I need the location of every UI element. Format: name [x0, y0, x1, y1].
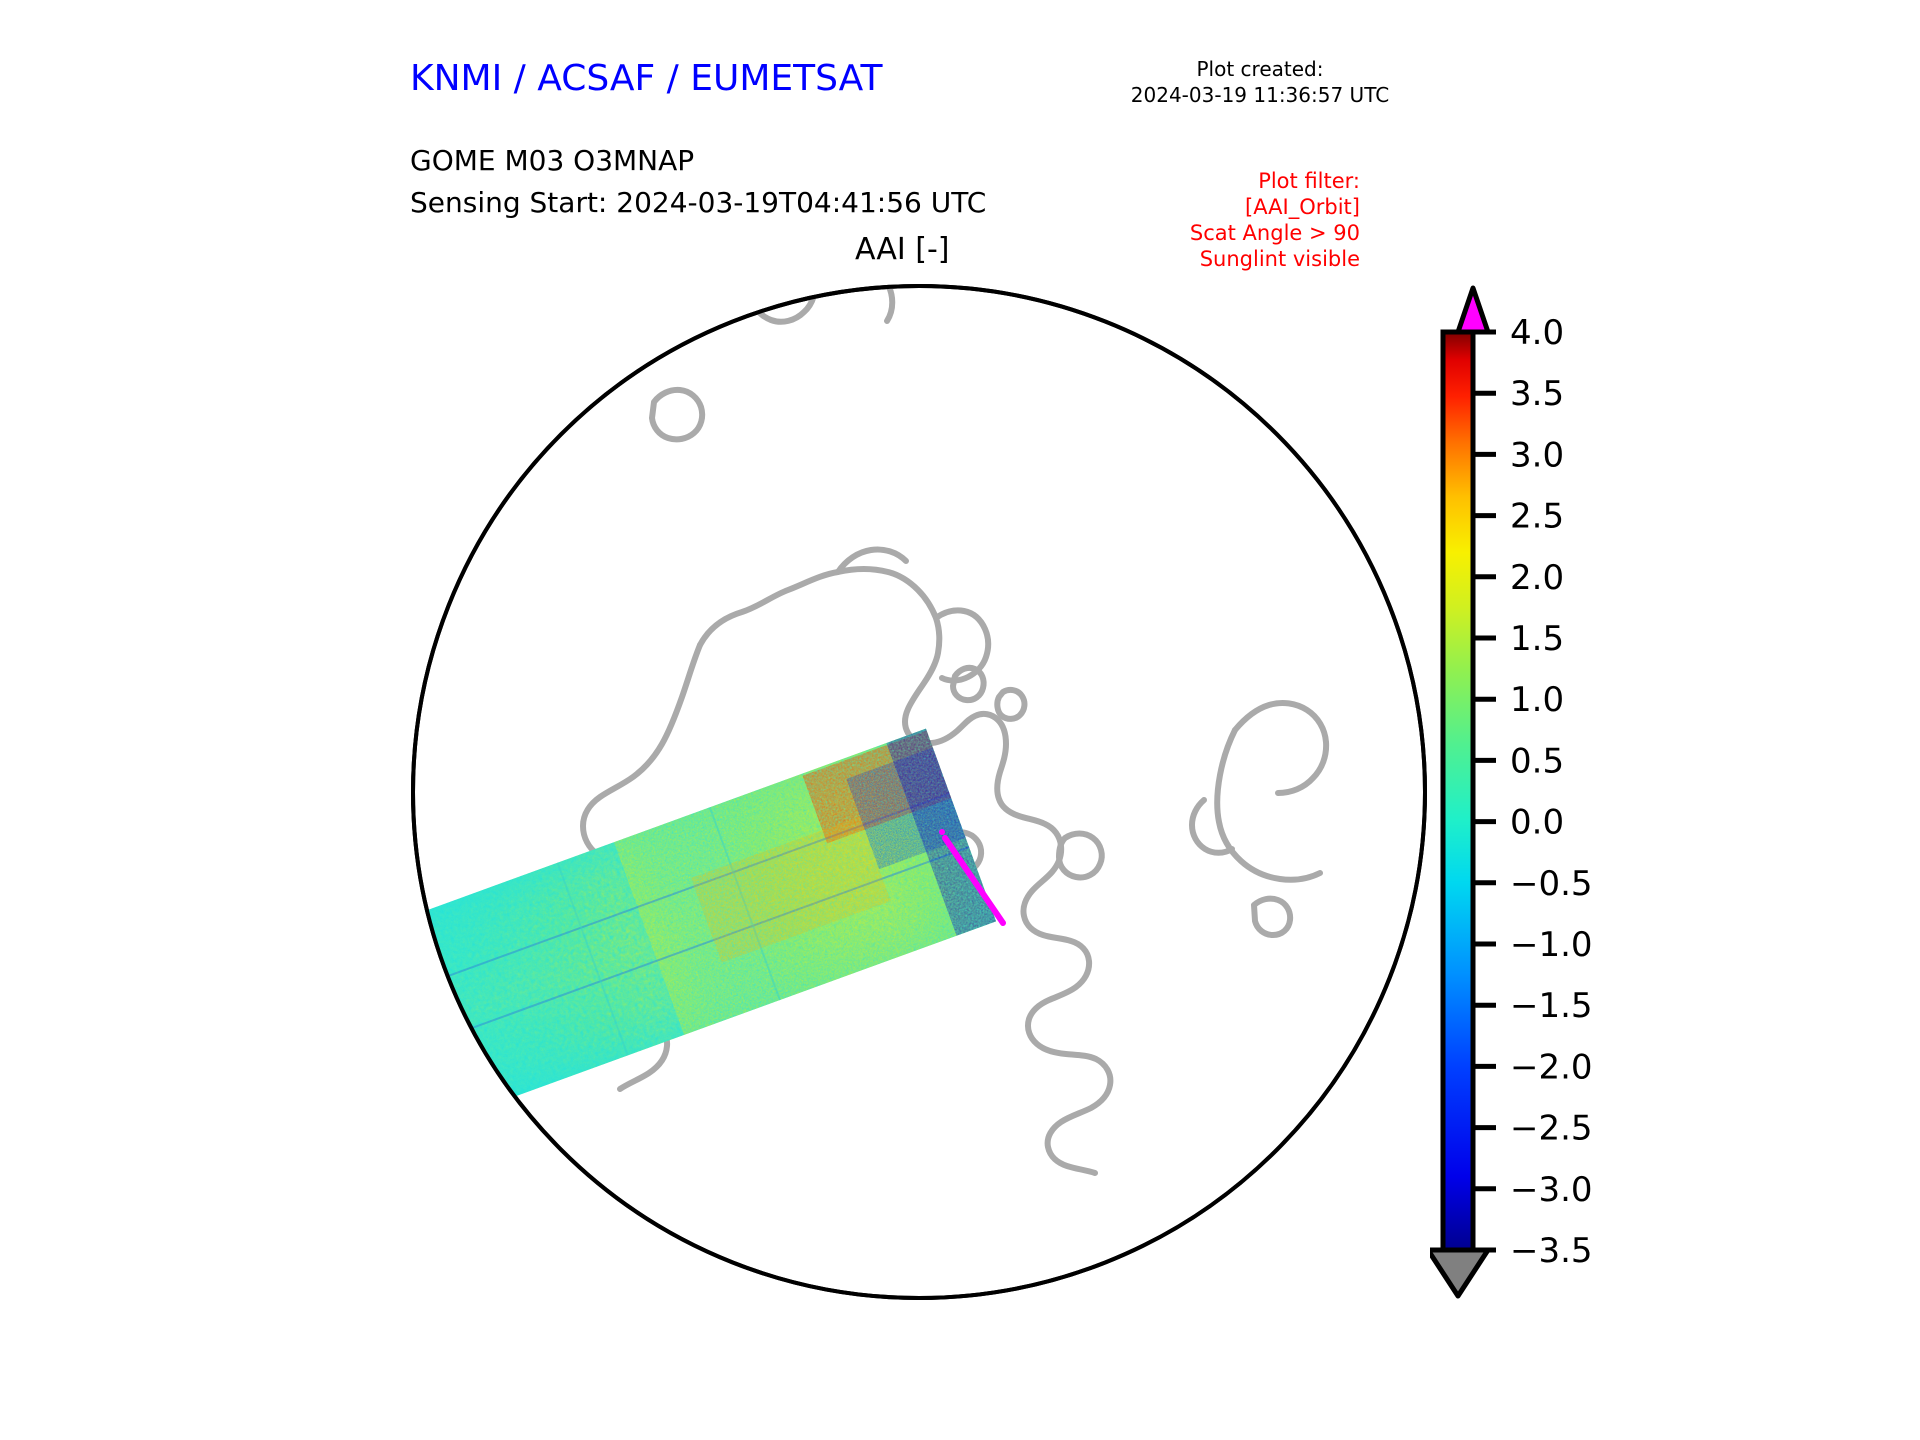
colorbar-tick-label: 3.0 [1510, 435, 1564, 475]
dataset-name: GOME M03 O3MNAP [410, 140, 986, 182]
colorbar-tick-label: 2.5 [1510, 497, 1564, 537]
plot-created-timestamp: 2024-03-19 11:36:57 UTC [1070, 82, 1450, 108]
dataset-block: GOME M03 O3MNAP Sensing Start: 2024-03-1… [410, 140, 986, 224]
filter-condition: Scat Angle > 90 [1190, 220, 1360, 246]
colorbar-tick-label: 0.5 [1510, 741, 1564, 781]
colorbar-tick-label: −2.0 [1510, 1047, 1593, 1087]
colorbar-under-arrow [1430, 1250, 1488, 1296]
colorbar-gradient-bar [1443, 332, 1473, 1250]
colorbar-tick-label: −0.5 [1510, 864, 1593, 904]
colorbar-tick-label: −1.0 [1510, 925, 1593, 965]
colorbar-tick-label: 2.0 [1510, 558, 1564, 598]
colorbar-tick-label: −2.5 [1510, 1109, 1593, 1149]
colorbar-tick-label: −1.5 [1510, 986, 1593, 1026]
filter-title: Plot filter: [1190, 168, 1360, 194]
colorbar-tick-label: 1.0 [1510, 680, 1564, 720]
filter-note: Sunglint visible [1190, 246, 1360, 272]
colorbar-ticks [1473, 332, 1496, 1250]
sunglint-track-start-dot [939, 829, 945, 835]
colorbar-tick-labels: 4.03.53.02.52.01.51.00.50.0−0.5−1.0−1.5−… [1510, 313, 1593, 1271]
colorbar-tick-label: 4.0 [1510, 313, 1564, 353]
colorbar: 4.03.53.02.52.01.51.00.50.0−0.5−1.0−1.5−… [1430, 270, 1760, 1315]
colorbar-tick-label: 0.0 [1510, 803, 1564, 843]
colorbar-tick-label: 3.5 [1510, 374, 1564, 414]
filter-name: [AAI_Orbit] [1190, 194, 1360, 220]
plot-created-label: Plot created: [1070, 56, 1450, 82]
plot-filter-block: Plot filter: [AAI_Orbit] Scat Angle > 90… [1190, 168, 1360, 272]
colorbar-tick-label: −3.5 [1510, 1231, 1593, 1271]
variable-title: AAI [-] [855, 232, 950, 267]
colorbar-tick-label: −3.0 [1510, 1170, 1593, 1210]
organisation-title: KNMI / ACSAF / EUMETSAT [410, 58, 882, 99]
plot-created-block: Plot created: 2024-03-19 11:36:57 UTC [1070, 56, 1450, 108]
colorbar-tick-label: 1.5 [1510, 619, 1564, 659]
sensing-start: Sensing Start: 2024-03-19T04:41:56 UTC [410, 182, 986, 224]
colorbar-over-arrow [1458, 288, 1488, 332]
colorbar-panel: 4.03.53.02.52.01.51.00.50.0−0.5−1.0−1.5−… [1430, 270, 1760, 1315]
